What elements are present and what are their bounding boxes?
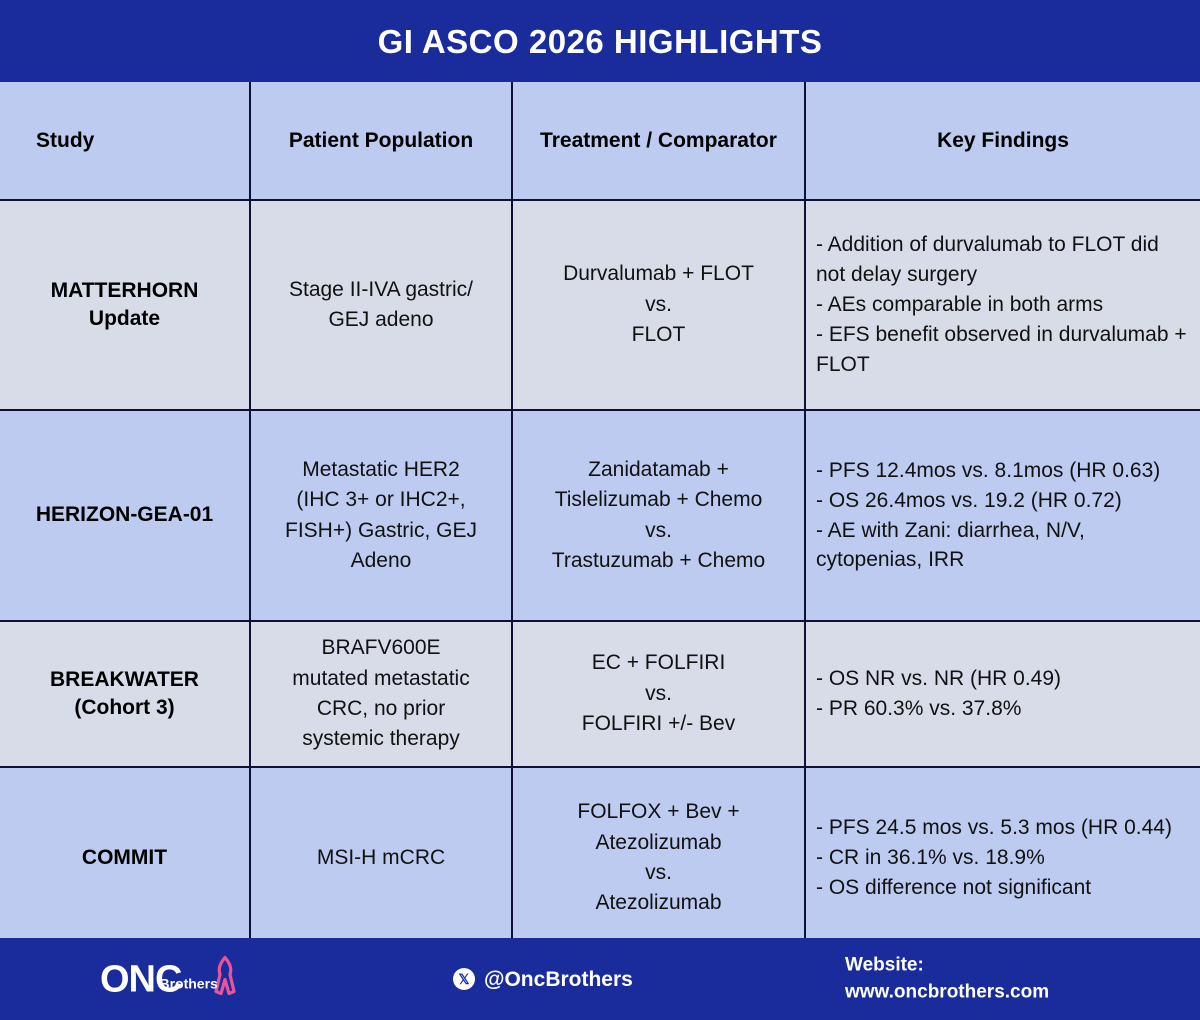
study-name-line: BREAKWATER bbox=[10, 666, 239, 694]
footer-bar: ONC Brothers 𝕏 @OncBrothers Website: www… bbox=[0, 938, 1200, 1020]
population-line: Adeno bbox=[261, 546, 501, 576]
cell-findings: - OS NR vs. NR (HR 0.49) - PR 60.3% vs. … bbox=[805, 621, 1200, 767]
cell-population: BRAFV600E mutated metastatic CRC, no pri… bbox=[250, 621, 512, 767]
population-line: Stage II-IVA gastric/ bbox=[261, 275, 501, 305]
table-header: Study Patient Population Treatment / Com… bbox=[0, 82, 1200, 200]
table-header-row: Study Patient Population Treatment / Com… bbox=[0, 82, 1200, 200]
finding-item: - OS 26.4mos vs. 19.2 (HR 0.72) bbox=[816, 486, 1190, 516]
brand-logo-sub: Brothers bbox=[159, 976, 217, 990]
cell-study: MATTERHORN Update bbox=[0, 200, 250, 410]
population-line: systemic therapy bbox=[261, 724, 501, 754]
population-line: GEJ adeno bbox=[261, 305, 501, 335]
column-header-findings: Key Findings bbox=[805, 82, 1200, 200]
finding-item: - OS difference not significant bbox=[816, 873, 1190, 903]
website-label: Website: bbox=[845, 952, 1049, 979]
study-name-line: HERIZON-GEA-01 bbox=[10, 501, 239, 529]
treatment-line: FOLFIRI +/- Bev bbox=[523, 709, 794, 739]
cell-treatment: Zanidatamab + Tislelizumab + Chemo vs. T… bbox=[512, 410, 805, 621]
cell-treatment: FOLFOX + Bev + Atezolizumab vs. Atezoliz… bbox=[512, 767, 805, 948]
treatment-line: Zanidatamab + bbox=[523, 455, 794, 485]
treatment-line: Atezolizumab bbox=[523, 888, 794, 918]
study-name-line: Update bbox=[10, 305, 239, 333]
column-header-study: Study bbox=[0, 82, 250, 200]
brand-logo: ONC Brothers bbox=[100, 958, 238, 1001]
social-handle[interactable]: 𝕏 @OncBrothers bbox=[453, 968, 633, 990]
study-name-line: (Cohort 3) bbox=[10, 694, 239, 722]
finding-item: - OS NR vs. NR (HR 0.49) bbox=[816, 664, 1190, 694]
cell-treatment: EC + FOLFIRI vs. FOLFIRI +/- Bev bbox=[512, 621, 805, 767]
table-row: BREAKWATER (Cohort 3) BRAFV600E mutated … bbox=[0, 621, 1200, 767]
treatment-line: Atezolizumab bbox=[523, 828, 794, 858]
finding-item: - PFS 12.4mos vs. 8.1mos (HR 0.63) bbox=[816, 456, 1190, 486]
treatment-line: EC + FOLFIRI bbox=[523, 648, 794, 678]
finding-item: - CR in 36.1% vs. 18.9% bbox=[816, 843, 1190, 873]
social-handle-text: @OncBrothers bbox=[484, 969, 633, 990]
highlights-table: Study Patient Population Treatment / Com… bbox=[0, 82, 1200, 948]
population-line: FISH+) Gastric, GEJ bbox=[261, 516, 501, 546]
treatment-line: vs. bbox=[523, 858, 794, 888]
treatment-line: FLOT bbox=[523, 320, 794, 350]
finding-item: - EFS benefit observed in durvalumab + F… bbox=[816, 320, 1190, 380]
treatment-line: Trastuzumab + Chemo bbox=[523, 546, 794, 576]
study-name-line: COMMIT bbox=[10, 844, 239, 872]
website-block: Website: www.oncbrothers.com bbox=[845, 952, 1049, 1005]
treatment-line: vs. bbox=[523, 290, 794, 320]
cell-study: COMMIT bbox=[0, 767, 250, 948]
population-line: MSI-H mCRC bbox=[261, 843, 501, 873]
table-row: HERIZON-GEA-01 Metastatic HER2 (IHC 3+ o… bbox=[0, 410, 1200, 621]
cell-study: HERIZON-GEA-01 bbox=[0, 410, 250, 621]
population-line: (IHC 3+ or IHC2+, bbox=[261, 485, 501, 515]
cell-findings: - PFS 24.5 mos vs. 5.3 mos (HR 0.44) - C… bbox=[805, 767, 1200, 948]
table-body: MATTERHORN Update Stage II-IVA gastric/ … bbox=[0, 200, 1200, 948]
finding-item: - PR 60.3% vs. 37.8% bbox=[816, 694, 1190, 724]
population-line: BRAFV600E bbox=[261, 633, 501, 663]
study-name-line: MATTERHORN bbox=[10, 277, 239, 305]
treatment-line: Tislelizumab + Chemo bbox=[523, 485, 794, 515]
cell-population: MSI-H mCRC bbox=[250, 767, 512, 948]
title-bar: GI ASCO 2026 HIGHLIGHTS bbox=[0, 0, 1200, 82]
column-header-treatment: Treatment / Comparator bbox=[512, 82, 805, 200]
finding-item: - Addition of durvalumab to FLOT did not… bbox=[816, 230, 1190, 290]
cell-findings: - PFS 12.4mos vs. 8.1mos (HR 0.63) - OS … bbox=[805, 410, 1200, 621]
cell-population: Stage II-IVA gastric/ GEJ adeno bbox=[250, 200, 512, 410]
cell-population: Metastatic HER2 (IHC 3+ or IHC2+, FISH+)… bbox=[250, 410, 512, 621]
finding-item: - PFS 24.5 mos vs. 5.3 mos (HR 0.44) bbox=[816, 813, 1190, 843]
table-row: MATTERHORN Update Stage II-IVA gastric/ … bbox=[0, 200, 1200, 410]
highlights-table-wrap: Study Patient Population Treatment / Com… bbox=[0, 82, 1200, 938]
treatment-line: FOLFOX + Bev + bbox=[523, 797, 794, 827]
cell-study: BREAKWATER (Cohort 3) bbox=[0, 621, 250, 767]
cell-findings: - Addition of durvalumab to FLOT did not… bbox=[805, 200, 1200, 410]
finding-item: - AE with Zani: diarrhea, N/V, cytopenia… bbox=[816, 516, 1190, 576]
cell-treatment: Durvalumab + FLOT vs. FLOT bbox=[512, 200, 805, 410]
treatment-line: vs. bbox=[523, 516, 794, 546]
x-logo-icon: 𝕏 bbox=[453, 968, 475, 990]
table-row: COMMIT MSI-H mCRC FOLFOX + Bev + Atezoli… bbox=[0, 767, 1200, 948]
website-url[interactable]: www.oncbrothers.com bbox=[845, 979, 1049, 1006]
population-line: mutated metastatic bbox=[261, 664, 501, 694]
population-line: Metastatic HER2 bbox=[261, 455, 501, 485]
page-title: GI ASCO 2026 HIGHLIGHTS bbox=[378, 25, 823, 58]
treatment-line: Durvalumab + FLOT bbox=[523, 259, 794, 289]
finding-item: - AEs comparable in both arms bbox=[816, 290, 1190, 320]
infographic-root: GI ASCO 2026 HIGHLIGHTS Study Patient Po… bbox=[0, 0, 1200, 1020]
treatment-line: vs. bbox=[523, 679, 794, 709]
population-line: CRC, no prior bbox=[261, 694, 501, 724]
column-header-population: Patient Population bbox=[250, 82, 512, 200]
